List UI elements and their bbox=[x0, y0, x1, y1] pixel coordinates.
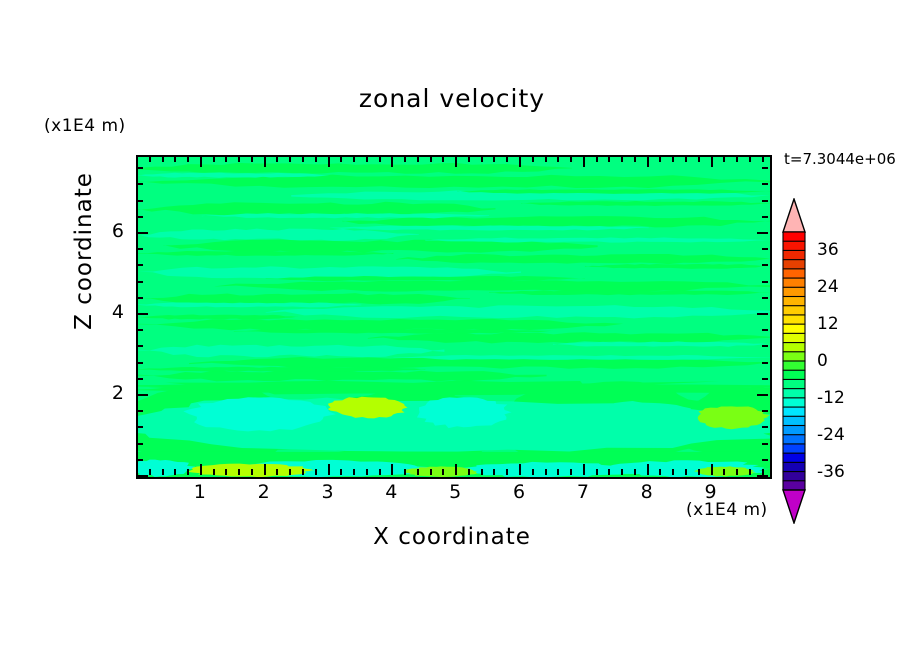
tick-mark bbox=[762, 264, 768, 266]
tick-mark bbox=[264, 156, 266, 167]
tick-mark bbox=[137, 232, 148, 234]
tick-mark bbox=[137, 167, 143, 169]
tick-mark bbox=[149, 469, 151, 475]
tick-mark bbox=[762, 443, 768, 445]
tick-mark bbox=[685, 469, 687, 475]
tick-mark bbox=[238, 156, 240, 162]
tick-mark bbox=[137, 183, 143, 185]
tick-mark bbox=[136, 464, 138, 475]
tick-mark bbox=[137, 394, 148, 396]
y-tick-label: 2 bbox=[98, 382, 124, 404]
tick-mark bbox=[225, 469, 227, 475]
x-tick-label: 6 bbox=[504, 481, 534, 503]
tick-mark bbox=[506, 469, 508, 475]
colorbar-tick-label: -36 bbox=[817, 462, 845, 482]
tick-mark bbox=[213, 469, 215, 475]
tick-mark bbox=[519, 156, 521, 167]
tick-mark bbox=[137, 200, 143, 202]
tick-mark bbox=[647, 156, 649, 167]
tick-mark bbox=[379, 156, 381, 162]
tick-mark bbox=[608, 469, 610, 475]
tick-mark bbox=[251, 156, 253, 162]
tick-mark bbox=[455, 464, 457, 475]
y-tick-label: 4 bbox=[98, 301, 124, 323]
tick-mark bbox=[532, 156, 534, 162]
time-annotation: t=7.3044e+06 bbox=[784, 150, 896, 168]
x-tick-label: 1 bbox=[185, 481, 215, 503]
tick-mark bbox=[762, 345, 768, 347]
tick-mark bbox=[762, 329, 768, 331]
x-axis-unit-label: (x1E4 m) bbox=[686, 500, 768, 520]
tick-mark bbox=[289, 469, 291, 475]
tick-mark bbox=[353, 469, 355, 475]
tick-mark bbox=[302, 469, 304, 475]
tick-mark bbox=[137, 475, 148, 477]
tick-mark bbox=[481, 156, 483, 162]
tick-mark bbox=[137, 378, 143, 380]
tick-mark bbox=[353, 156, 355, 162]
tick-mark bbox=[276, 469, 278, 475]
tick-mark bbox=[391, 156, 393, 167]
tick-mark bbox=[137, 248, 143, 250]
y-axis-unit-label: (x1E4 m) bbox=[44, 116, 126, 136]
colorbar-tick-label: 12 bbox=[817, 314, 839, 334]
tick-mark bbox=[137, 216, 143, 218]
tick-mark bbox=[493, 156, 495, 162]
colorbar-tick-label: 36 bbox=[817, 240, 839, 260]
tick-mark bbox=[379, 469, 381, 475]
figure-root: zonal velocity (x1E4 m) t=7.3044e+06 123… bbox=[0, 0, 904, 654]
tick-mark bbox=[583, 464, 585, 475]
tick-mark bbox=[328, 464, 330, 475]
x-tick-label: 3 bbox=[313, 481, 343, 503]
tick-mark bbox=[711, 156, 713, 167]
tick-mark bbox=[468, 156, 470, 162]
tick-mark bbox=[762, 281, 768, 283]
tick-mark bbox=[762, 200, 768, 202]
colorbar-tick-label: 24 bbox=[817, 277, 839, 297]
tick-mark bbox=[583, 156, 585, 167]
tick-mark bbox=[366, 156, 368, 162]
x-tick-label: 8 bbox=[632, 481, 662, 503]
contour-field bbox=[138, 157, 770, 477]
tick-mark bbox=[289, 156, 291, 162]
tick-mark bbox=[596, 469, 598, 475]
tick-mark bbox=[762, 248, 768, 250]
tick-mark bbox=[762, 156, 764, 162]
tick-mark bbox=[200, 464, 202, 475]
x-axis-title: X coordinate bbox=[136, 524, 768, 550]
tick-mark bbox=[174, 469, 176, 475]
x-tick-label: 2 bbox=[249, 481, 279, 503]
tick-mark bbox=[519, 464, 521, 475]
tick-mark bbox=[723, 156, 725, 162]
tick-mark bbox=[749, 469, 751, 475]
tick-mark bbox=[621, 156, 623, 162]
tick-mark bbox=[757, 232, 768, 234]
tick-mark bbox=[532, 469, 534, 475]
tick-mark bbox=[264, 464, 266, 475]
tick-mark bbox=[430, 156, 432, 162]
tick-mark bbox=[137, 443, 143, 445]
tick-mark bbox=[149, 156, 151, 162]
tick-mark bbox=[340, 469, 342, 475]
y-tick-label: 6 bbox=[98, 220, 124, 242]
tick-mark bbox=[757, 475, 768, 477]
tick-mark bbox=[187, 469, 189, 475]
tick-mark bbox=[137, 264, 143, 266]
colorbar-tick-label: 0 bbox=[817, 351, 828, 371]
tick-mark bbox=[276, 156, 278, 162]
tick-mark bbox=[137, 345, 143, 347]
tick-mark bbox=[545, 469, 547, 475]
y-axis-title: Z coordinate bbox=[71, 141, 97, 361]
tick-mark bbox=[762, 459, 768, 461]
tick-mark bbox=[506, 156, 508, 162]
x-tick-label: 5 bbox=[440, 481, 470, 503]
tick-mark bbox=[442, 156, 444, 162]
tick-mark bbox=[736, 469, 738, 475]
tick-mark bbox=[174, 156, 176, 162]
tick-mark bbox=[762, 410, 768, 412]
tick-mark bbox=[225, 156, 227, 162]
tick-mark bbox=[698, 469, 700, 475]
tick-mark bbox=[762, 297, 768, 299]
tick-mark bbox=[757, 394, 768, 396]
tick-mark bbox=[672, 156, 674, 162]
tick-mark bbox=[404, 156, 406, 162]
tick-mark bbox=[137, 281, 143, 283]
tick-mark bbox=[391, 464, 393, 475]
tick-mark bbox=[570, 156, 572, 162]
tick-mark bbox=[137, 426, 143, 428]
tick-mark bbox=[366, 469, 368, 475]
tick-mark bbox=[213, 156, 215, 162]
tick-mark bbox=[238, 469, 240, 475]
tick-mark bbox=[340, 156, 342, 162]
tick-mark bbox=[545, 156, 547, 162]
page-title: zonal velocity bbox=[0, 84, 904, 113]
tick-mark bbox=[481, 469, 483, 475]
x-tick-label: 4 bbox=[376, 481, 406, 503]
tick-mark bbox=[455, 156, 457, 167]
x-tick-label: 7 bbox=[568, 481, 598, 503]
tick-mark bbox=[187, 156, 189, 162]
tick-mark bbox=[251, 469, 253, 475]
lower-cell-layer bbox=[138, 381, 770, 477]
tick-mark bbox=[762, 378, 768, 380]
tick-mark bbox=[315, 469, 317, 475]
tick-mark bbox=[137, 329, 143, 331]
tick-mark bbox=[762, 216, 768, 218]
tick-mark bbox=[762, 167, 768, 169]
tick-mark bbox=[315, 156, 317, 162]
colorbar-tick-label: -24 bbox=[817, 425, 845, 445]
tick-mark bbox=[557, 469, 559, 475]
tick-mark bbox=[698, 156, 700, 162]
tick-mark bbox=[634, 469, 636, 475]
tick-mark bbox=[404, 469, 406, 475]
tick-mark bbox=[200, 156, 202, 167]
tick-mark bbox=[137, 410, 143, 412]
tick-mark bbox=[328, 156, 330, 167]
tick-mark bbox=[136, 156, 138, 167]
tick-mark bbox=[608, 156, 610, 162]
tick-mark bbox=[137, 297, 143, 299]
tick-mark bbox=[430, 469, 432, 475]
tick-mark bbox=[557, 156, 559, 162]
tick-mark bbox=[711, 464, 713, 475]
tick-mark bbox=[302, 156, 304, 162]
colorbar-tick-label: -12 bbox=[817, 388, 845, 408]
tick-mark bbox=[749, 156, 751, 162]
tick-mark bbox=[736, 156, 738, 162]
tick-mark bbox=[570, 469, 572, 475]
tick-mark bbox=[762, 362, 768, 364]
tick-mark bbox=[723, 469, 725, 475]
tick-mark bbox=[162, 156, 164, 162]
colorbar-gradient bbox=[781, 198, 821, 524]
tick-mark bbox=[659, 469, 661, 475]
tick-mark bbox=[762, 183, 768, 185]
colorbar: 3624120-12-24-36 bbox=[781, 198, 901, 524]
tick-mark bbox=[659, 156, 661, 162]
tick-mark bbox=[468, 469, 470, 475]
tick-mark bbox=[417, 156, 419, 162]
tick-mark bbox=[417, 469, 419, 475]
tick-mark bbox=[672, 469, 674, 475]
tick-mark bbox=[137, 313, 148, 315]
tick-mark bbox=[137, 362, 143, 364]
tick-mark bbox=[621, 469, 623, 475]
tick-mark bbox=[757, 313, 768, 315]
tick-mark bbox=[137, 459, 143, 461]
tick-mark bbox=[685, 156, 687, 162]
contour-plot-area bbox=[136, 155, 772, 479]
tick-mark bbox=[596, 156, 598, 162]
tick-mark bbox=[442, 469, 444, 475]
tick-mark bbox=[762, 426, 768, 428]
tick-mark bbox=[493, 469, 495, 475]
tick-mark bbox=[647, 464, 649, 475]
tick-mark bbox=[634, 156, 636, 162]
tick-mark bbox=[162, 469, 164, 475]
